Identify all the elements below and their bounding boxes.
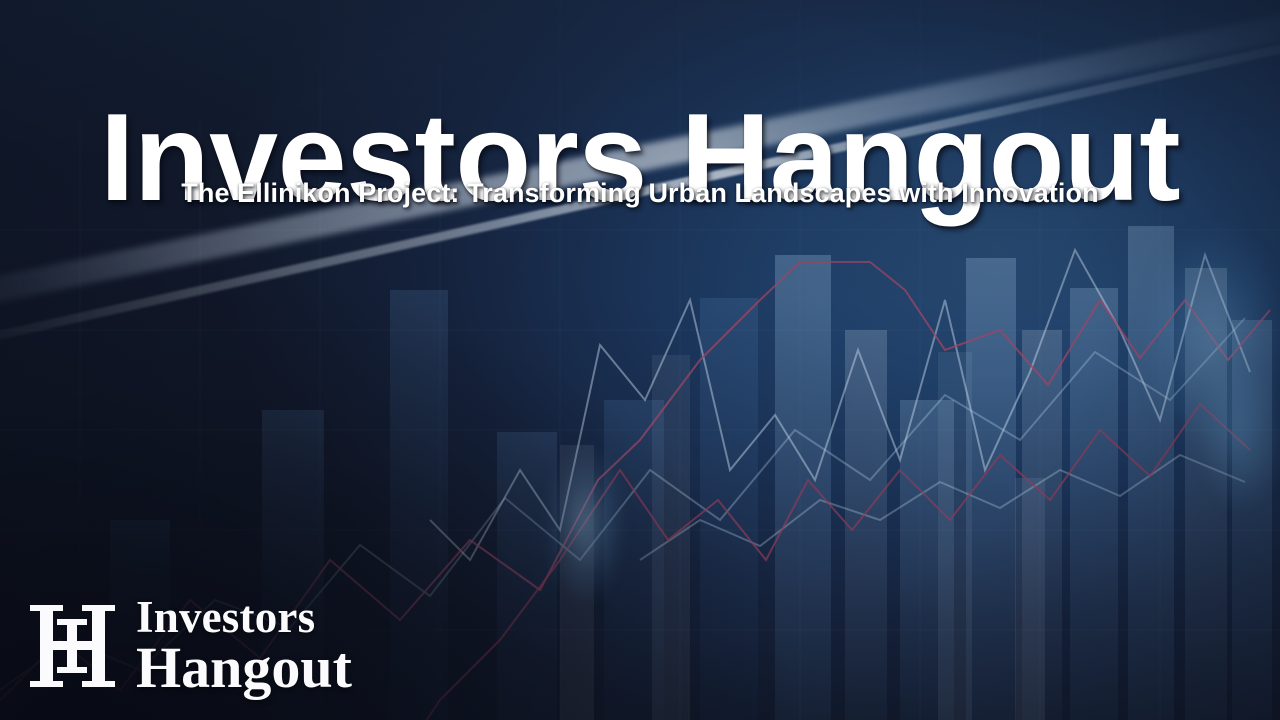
brand-wordmark-line2: Hangout [136, 640, 352, 696]
brand-wordmark-line1: Investors [136, 596, 352, 639]
ih-monogram-icon [26, 594, 122, 698]
promo-banner: Investors Hangout The Ellinikon Project:… [0, 0, 1280, 720]
brand-wordmark: Investors Hangout [136, 596, 352, 696]
page-subtitle: The Ellinikon Project: Transforming Urba… [0, 178, 1280, 209]
brand-logo[interactable]: Investors Hangout [26, 594, 352, 698]
